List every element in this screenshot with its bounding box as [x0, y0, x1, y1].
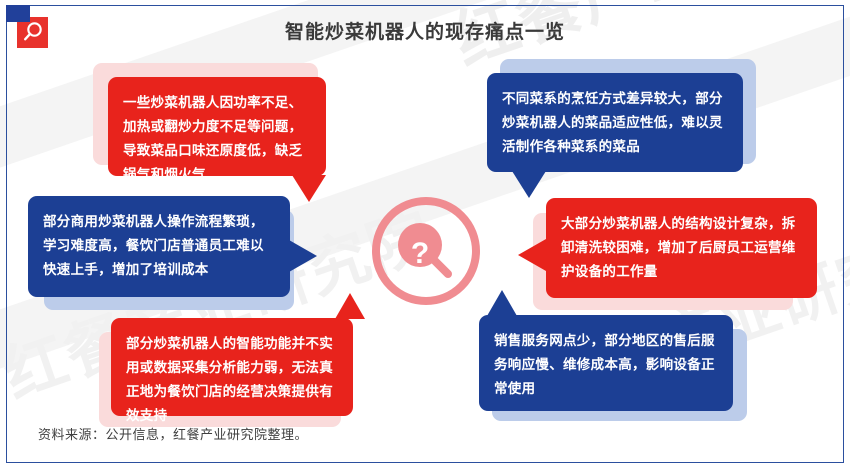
bubble-tail-after-sales: [487, 290, 517, 316]
corner-accent: [6, 5, 30, 22]
page-title: 智能炒菜机器人的现存痛点一览: [0, 17, 850, 44]
bubble-structure-cleaning[interactable]: 大部分炒菜机器人的结构设计复杂，拆卸清洗较困难，增加了后厨员工运营维护设备的工作…: [546, 198, 817, 298]
infographic-page: 红餐产业研究院 红餐产业研究院 红餐产业研究院 智能炒菜机器人的现存痛点一览 一…: [0, 0, 850, 468]
source-note: 资料来源：公开信息，红餐产业研究院整理。: [38, 424, 308, 443]
svg-text:?: ?: [411, 237, 429, 270]
bubble-smart-features[interactable]: 部分炒菜机器人的智能功能并不实用或数据采集分析能力弱，无法真正地为餐饮门店的经营…: [111, 318, 353, 416]
bubble-power-heating[interactable]: 一些炒菜机器人因功率不足、加热或翻炒力度不足等问题，导致菜品口味还原度低，缺乏锅…: [108, 77, 326, 176]
bubble-operation-complexity[interactable]: 部分商用炒菜机器人操作流程繁琐，学习难度高，餐饮门店普通员工难以快速上手，增加了…: [28, 196, 290, 297]
bubble-tail-structure-cleaning: [518, 239, 546, 271]
bubble-tail-smart-features: [335, 293, 365, 319]
bubble-tail-cuisine-adaptability: [512, 171, 546, 198]
bubble-tail-power-heating: [292, 175, 326, 202]
bubble-cuisine-adaptability[interactable]: 不同菜系的烹饪方式差异较大，部分炒菜机器人的菜品适应性低，难以灵活制作各种菜系的…: [487, 73, 743, 172]
question-magnifier-icon: ?: [368, 193, 484, 309]
bubble-tail-operation-complexity: [289, 240, 317, 272]
bubble-after-sales[interactable]: 销售服务网点少，部分地区的售后服务响应慢、维修成本高，影响设备正常使用: [479, 315, 733, 411]
